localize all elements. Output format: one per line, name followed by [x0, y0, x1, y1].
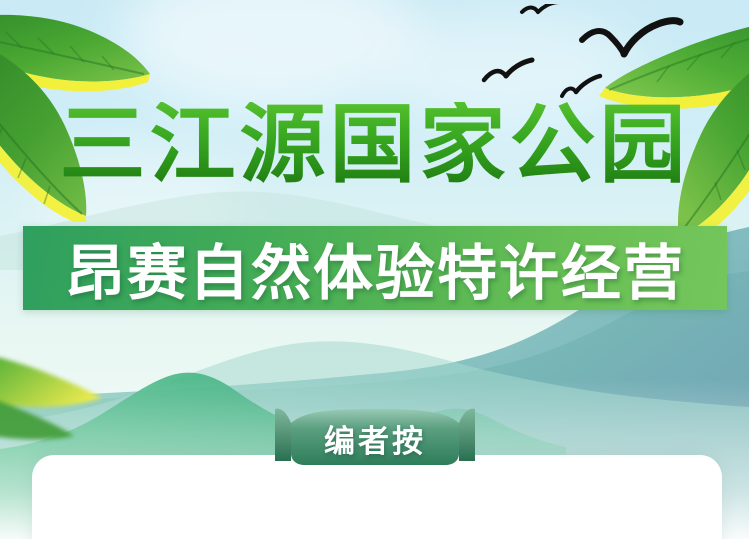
sky-wash	[120, 0, 420, 110]
subtitle-band: 昂赛自然体验特许经营	[23, 226, 727, 310]
subtitle-text: 昂赛自然体验特许经营	[23, 226, 727, 310]
poster-root: 三江源国家公园 昂赛自然体验特许经营	[0, 0, 749, 539]
editor-note-ribbon: 编者按	[275, 407, 475, 469]
editor-note-label: 编者按	[275, 407, 475, 469]
page-title: 三江源国家公园	[0, 102, 749, 188]
